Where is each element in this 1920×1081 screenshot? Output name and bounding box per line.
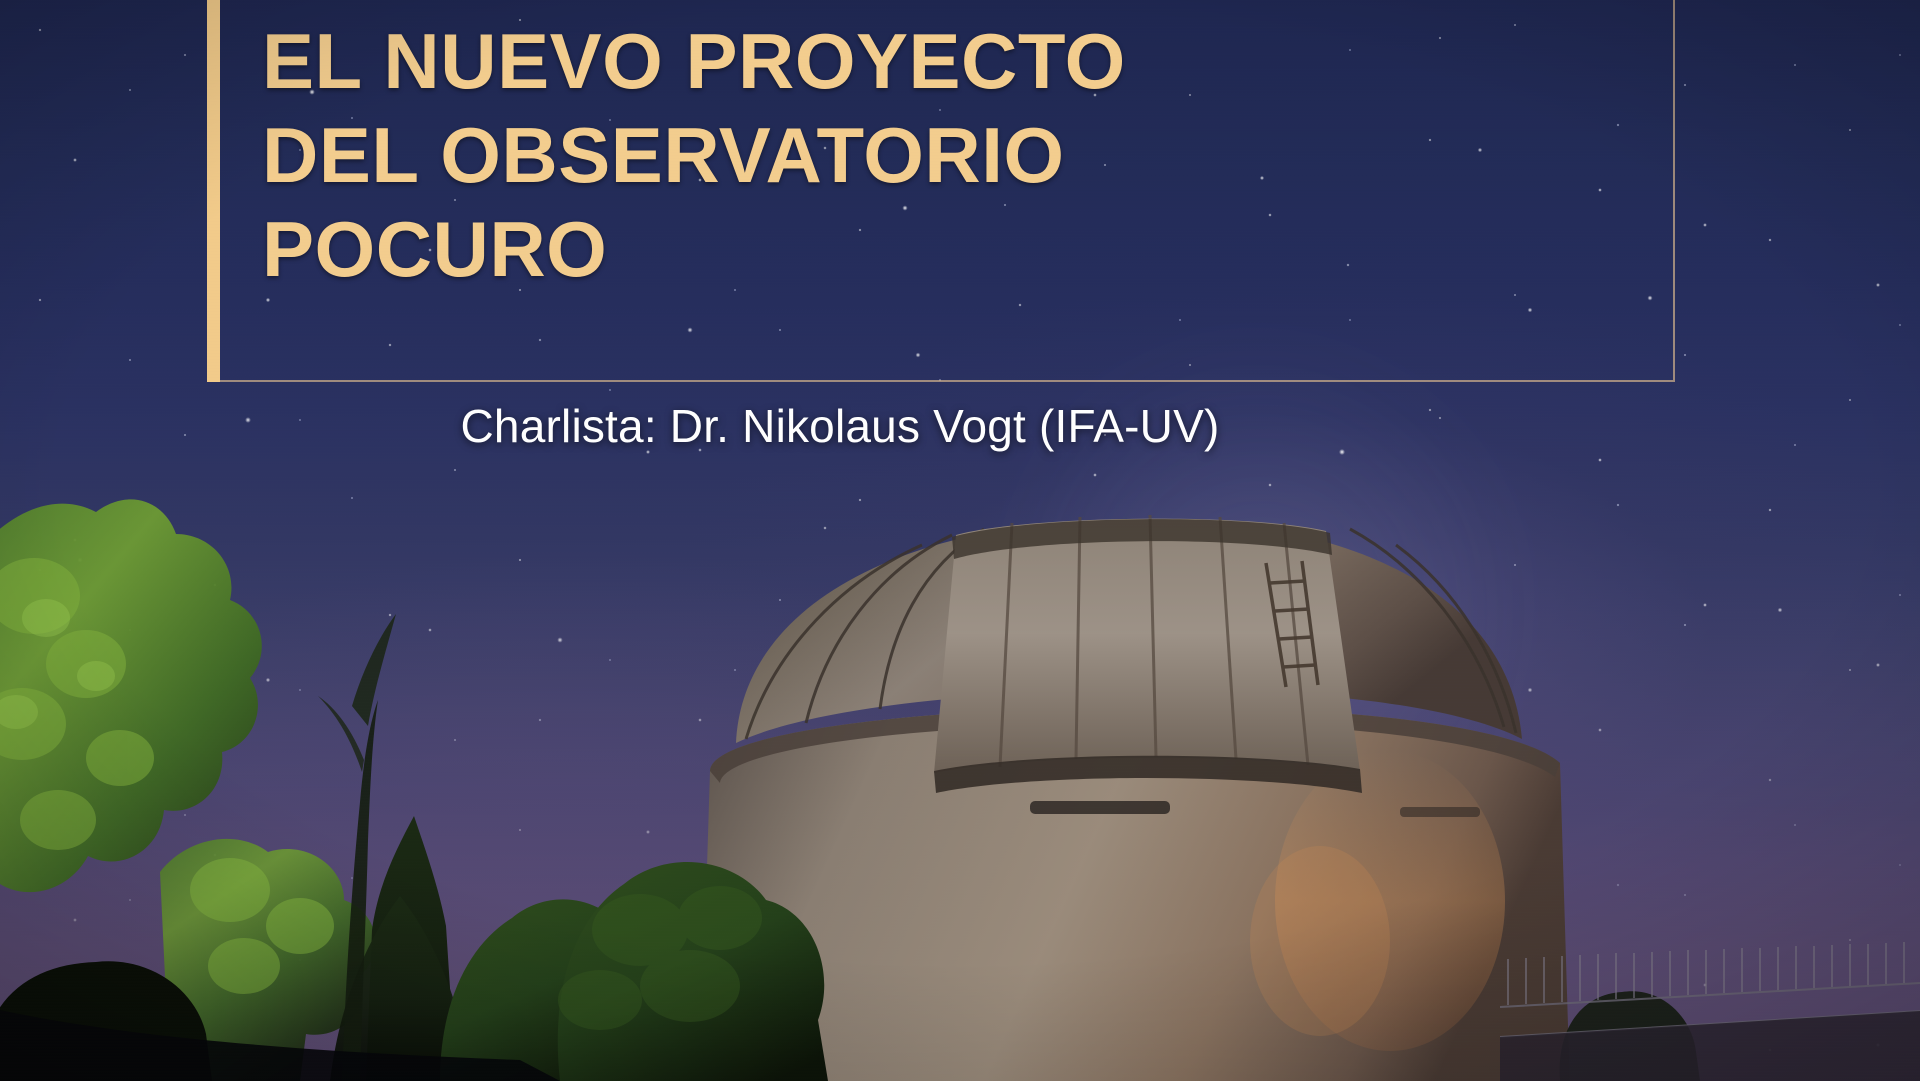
speaker-subtitle: Charlista: Dr. Nikolaus Vogt (IFA-UV) — [0, 398, 1680, 454]
title-accent-bar — [207, 0, 220, 382]
title-line-2: DEL OBSERVATORIO — [262, 108, 1442, 202]
presentation-slide: EL NUEVO PROYECTO DEL OBSERVATORIO POCUR… — [0, 0, 1920, 1081]
title-line-3: POCURO — [262, 202, 1442, 296]
title-line-1: EL NUEVO PROYECTO — [262, 14, 1442, 108]
page-title: EL NUEVO PROYECTO DEL OBSERVATORIO POCUR… — [262, 14, 1442, 296]
